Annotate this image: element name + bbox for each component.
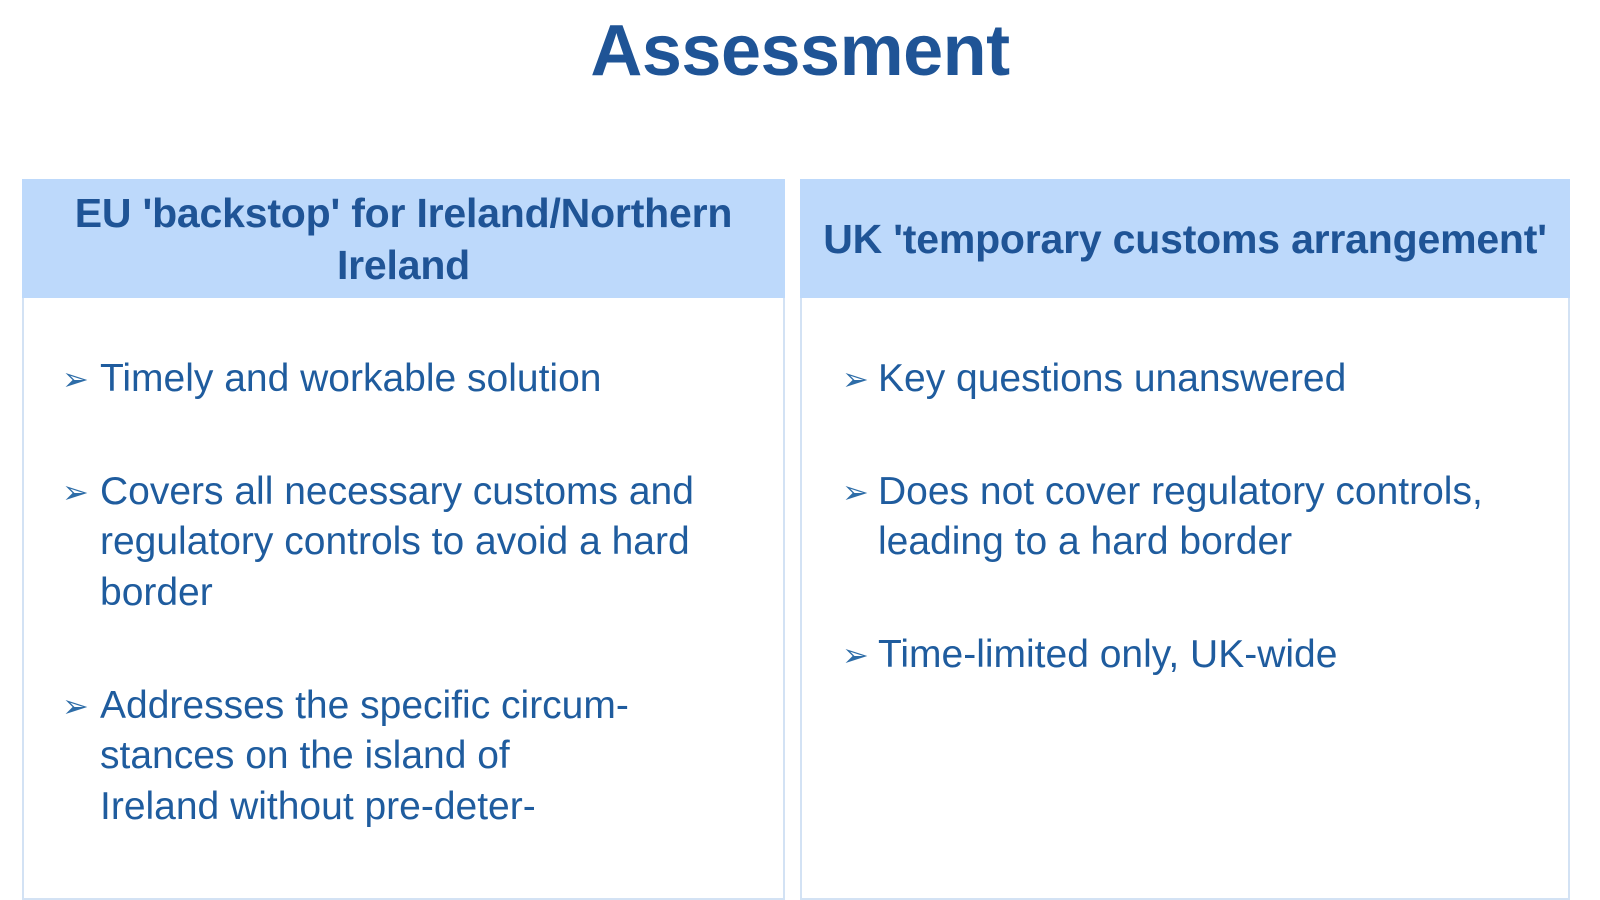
list-item: ➢ Addresses the specific circum- stances… (42, 681, 765, 833)
comparison-column-uk-temporary-customs-arrangement: UK 'temporary customs arrangement' ➢ Key… (800, 179, 1570, 900)
column-body-eu-backstop: ➢ Timely and workable solution ➢ Covers … (22, 298, 785, 900)
bullet-list-eu-backstop: ➢ Timely and workable solution ➢ Covers … (42, 354, 765, 833)
column-header-label: UK 'temporary customs arrangement' (814, 214, 1556, 265)
list-item: ➢ Timely and workable solution (42, 354, 765, 405)
arrow-bullet-icon: ➢ (42, 681, 100, 732)
list-item-text: Addresses the specific circum- stances o… (100, 681, 765, 833)
list-item-text: Does not cover regulatory controls, lead… (878, 467, 1550, 568)
bullet-list-uk-tca: ➢ Key questions unanswered ➢ Does not co… (820, 354, 1550, 681)
arrow-bullet-icon: ➢ (820, 354, 878, 405)
comparison-table: EU 'backstop' for Ireland/Northern Irela… (0, 179, 1600, 900)
arrow-bullet-icon: ➢ (42, 467, 100, 518)
list-item: ➢ Key questions unanswered (820, 354, 1550, 405)
list-item: ➢ Does not cover regulatory controls, le… (820, 467, 1550, 568)
list-item-text: Key questions unanswered (878, 354, 1550, 405)
column-body-uk-tca: ➢ Key questions unanswered ➢ Does not co… (800, 298, 1570, 900)
list-item-text: Covers all necessary customs and regulat… (100, 467, 765, 619)
list-item: ➢ Time-limited only, UK-wide (820, 630, 1550, 681)
column-header-label: EU 'backstop' for Ireland/Northern Irela… (36, 188, 771, 291)
arrow-bullet-icon: ➢ (42, 354, 100, 405)
list-item-text: Time-limited only, UK-wide (878, 630, 1550, 681)
column-header-uk-tca: UK 'temporary customs arrangement' (800, 179, 1570, 298)
list-item: ➢ Covers all necessary customs and regul… (42, 467, 765, 619)
column-header-eu-backstop: EU 'backstop' for Ireland/Northern Irela… (22, 179, 785, 298)
arrow-bullet-icon: ➢ (820, 630, 878, 681)
comparison-column-eu-backstop: EU 'backstop' for Ireland/Northern Irela… (22, 179, 785, 900)
arrow-bullet-icon: ➢ (820, 467, 878, 518)
page-title: Assessment (0, 14, 1600, 90)
list-item-text: Timely and workable solution (100, 354, 765, 405)
